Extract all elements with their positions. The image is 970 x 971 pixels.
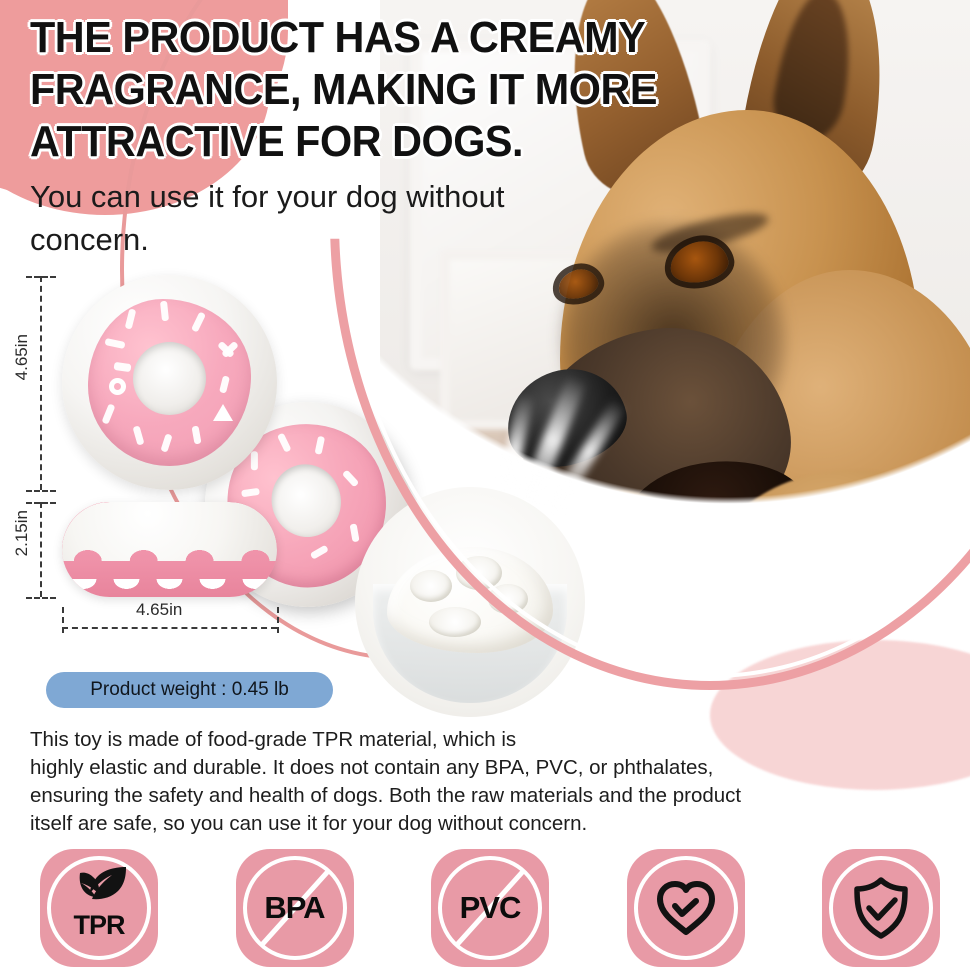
product-weight-badge: Product weight : 0.45 lb [46,672,333,708]
dimension-thickness-label: 2.15in [12,510,32,556]
description-line-4: itself are safe, so you can use it for y… [30,810,955,838]
badge-heart-check [627,849,745,967]
badge-shield-check [822,849,940,967]
shield-check-icon [852,876,910,940]
badge-label: TPR [74,910,125,941]
description-line-3: ensuring the safety and health of dogs. … [30,782,955,810]
product-side-view [62,502,277,597]
description-line-2: highly elastic and durable. It does not … [30,754,955,782]
badge-tpr: TPR [40,849,158,967]
leaf-icon [68,863,130,911]
description-paragraph: This toy is made of food-grade TPR mater… [30,726,955,838]
certification-badge-row: TPR BPA PVC [40,848,940,968]
product-dimension-diagram: 4.65in 2.15in 4.65in [0,262,330,662]
badge-label: BPA [264,890,324,926]
badge-no-pvc: PVC [431,849,549,967]
page-title: THE PRODUCT HAS A CREAMY FRAGRANCE, MAKI… [30,12,791,168]
product-top-view [62,275,277,490]
badge-no-bpa: BPA [236,849,354,967]
dimension-height-label: 4.65in [12,334,32,380]
subtitle: You can use it for your dog without conc… [30,175,510,261]
badge-label: PVC [460,890,521,926]
heart-check-icon [654,878,718,938]
cream-swirl-4 [429,607,481,637]
cream-swirl-1 [410,570,452,602]
dimension-width-label: 4.65in [136,600,182,620]
description-line-1: This toy is made of food-grade TPR mater… [30,726,955,754]
